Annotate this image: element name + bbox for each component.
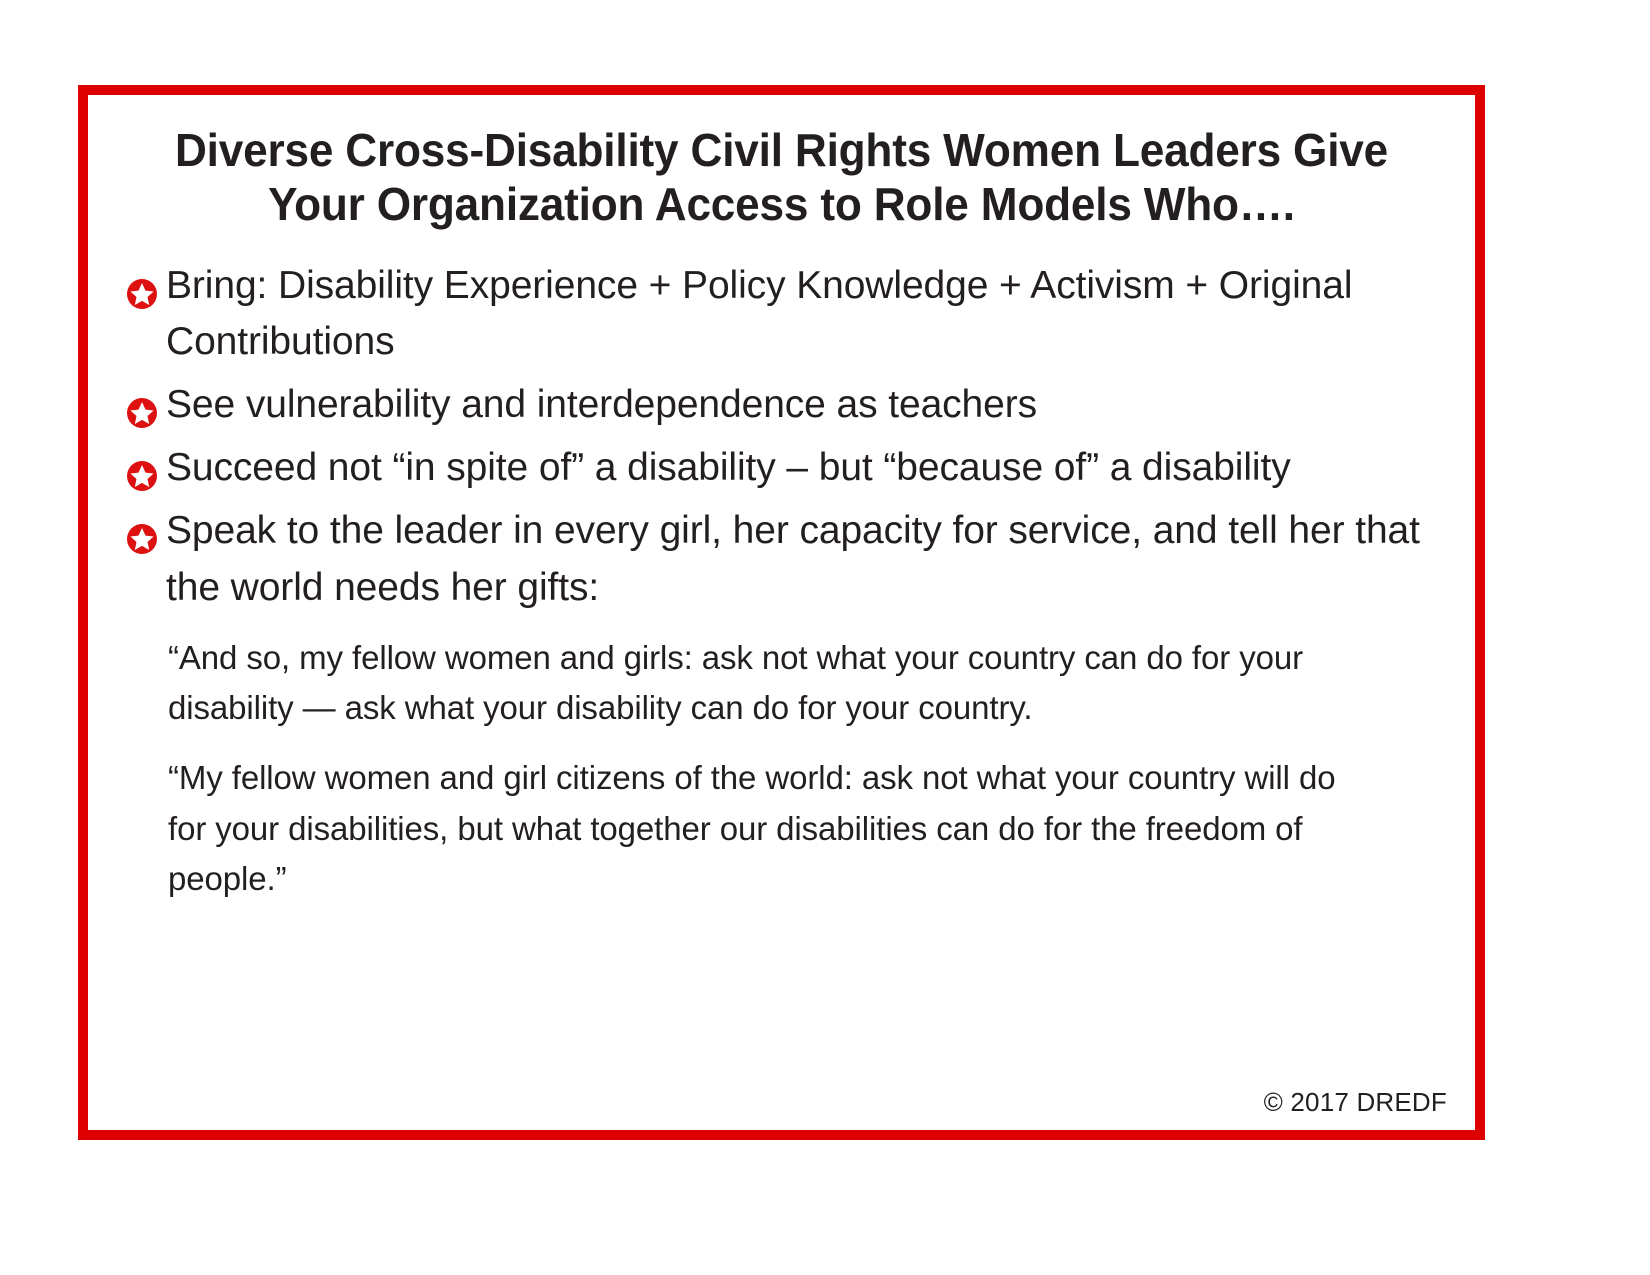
slide-content-area: Diverse Cross-Disability Civil Rights Wo… bbox=[88, 95, 1475, 1130]
red-circle-star-icon bbox=[126, 270, 158, 302]
list-item-label: Bring: Disability Experience + Policy Kn… bbox=[166, 264, 1352, 364]
quote-block: “And so, my fellow women and girls: ask … bbox=[122, 633, 1441, 904]
list-item-label: Speak to the leader in every girl, her c… bbox=[166, 509, 1420, 609]
list-item: Succeed not “in spite of” a disability –… bbox=[122, 440, 1441, 497]
red-bordered-slide-frame: Diverse Cross-Disability Civil Rights Wo… bbox=[78, 85, 1485, 1140]
list-item: Bring: Disability Experience + Policy Kn… bbox=[122, 258, 1441, 372]
slide-root: Diverse Cross-Disability Civil Rights Wo… bbox=[0, 0, 1650, 1275]
quote-paragraph: “My fellow women and girl citizens of th… bbox=[168, 753, 1351, 903]
red-circle-star-icon bbox=[126, 389, 158, 421]
list-item: See vulnerability and interdependence as… bbox=[122, 377, 1441, 434]
copyright-notice: © 2017 DREDF bbox=[1264, 1087, 1447, 1118]
bullet-list: Bring: Disability Experience + Policy Kn… bbox=[122, 258, 1441, 618]
quote-paragraph: “And so, my fellow women and girls: ask … bbox=[168, 633, 1351, 733]
list-item-label: Succeed not “in spite of” a disability –… bbox=[166, 446, 1291, 489]
list-item-label: See vulnerability and interdependence as… bbox=[166, 383, 1037, 426]
list-item: Speak to the leader in every girl, her c… bbox=[122, 503, 1441, 617]
red-circle-star-icon bbox=[126, 452, 158, 484]
red-circle-star-icon bbox=[126, 515, 158, 547]
page-title: Diverse Cross-Disability Civil Rights Wo… bbox=[148, 123, 1414, 232]
